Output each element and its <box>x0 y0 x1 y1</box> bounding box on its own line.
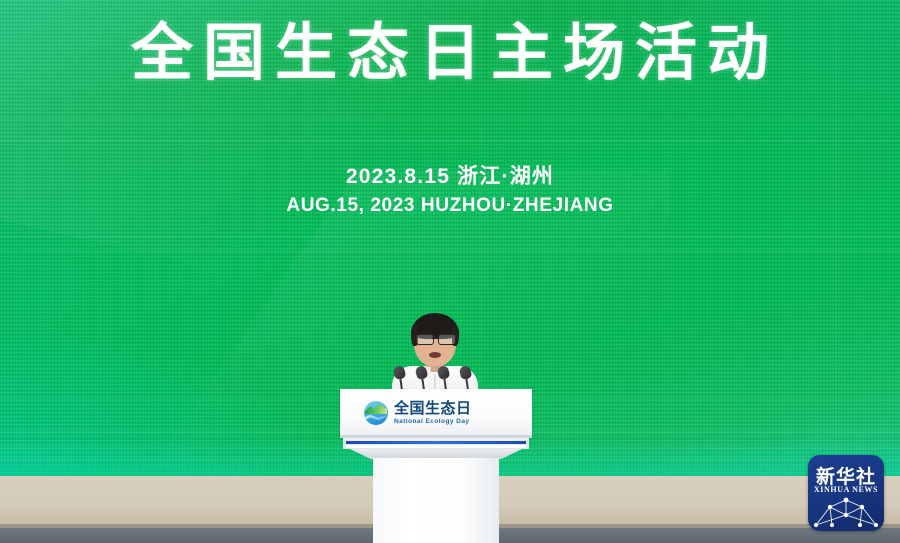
podium: 全国生态日 National Ecology Day <box>340 389 532 543</box>
event-subtitle-english: AUG.15, 2023 HUZHOU·ZHEJIANG <box>0 195 900 217</box>
event-title: 全国生态日主场活动 <box>0 17 900 90</box>
emblem-water-wave-shape <box>364 413 388 423</box>
mountain-water-emblem-icon <box>364 401 388 425</box>
podium-logo-block: 全国生态日 National Ecology Day <box>364 400 504 426</box>
wall-scanband-3 <box>0 236 900 238</box>
podium-logo-english: National Ecology Day <box>394 419 472 426</box>
event-subtitle-chinese: 2023.8.15 浙江·湖州 <box>0 160 900 190</box>
xinhua-logo-english: XINHUA NEWS <box>808 485 884 494</box>
news-photo-scene: 全国生态日主场活动 2023.8.15 浙江·湖州 AUG.15, 2023 H… <box>0 0 900 543</box>
xinhua-news-watermark: 新华社 XINHUA NEWS <box>808 455 884 531</box>
wall-teal-glow-bottom-left <box>0 326 330 476</box>
speaker-mouth <box>429 352 441 358</box>
wall-scanband-4 <box>0 250 900 252</box>
wall-scanband-2 <box>0 140 900 142</box>
podium-column-base <box>373 458 499 543</box>
xinhua-network-graphic-icon <box>812 495 880 529</box>
podium-blue-accent-stripe <box>346 441 526 444</box>
podium-logo-text: 全国生态日 National Ecology Day <box>394 401 472 425</box>
glasses-left-lens-icon <box>416 334 434 345</box>
wall-scanband-1 <box>0 118 900 120</box>
podium-logo-chinese: 全国生态日 <box>394 401 472 416</box>
glasses-bridge-icon <box>432 337 438 339</box>
emblem-disc <box>364 401 388 425</box>
emblem-mountain-shape <box>365 403 387 414</box>
glasses-right-lens-icon <box>438 334 456 345</box>
podium-white-accent-stripe <box>346 445 526 448</box>
